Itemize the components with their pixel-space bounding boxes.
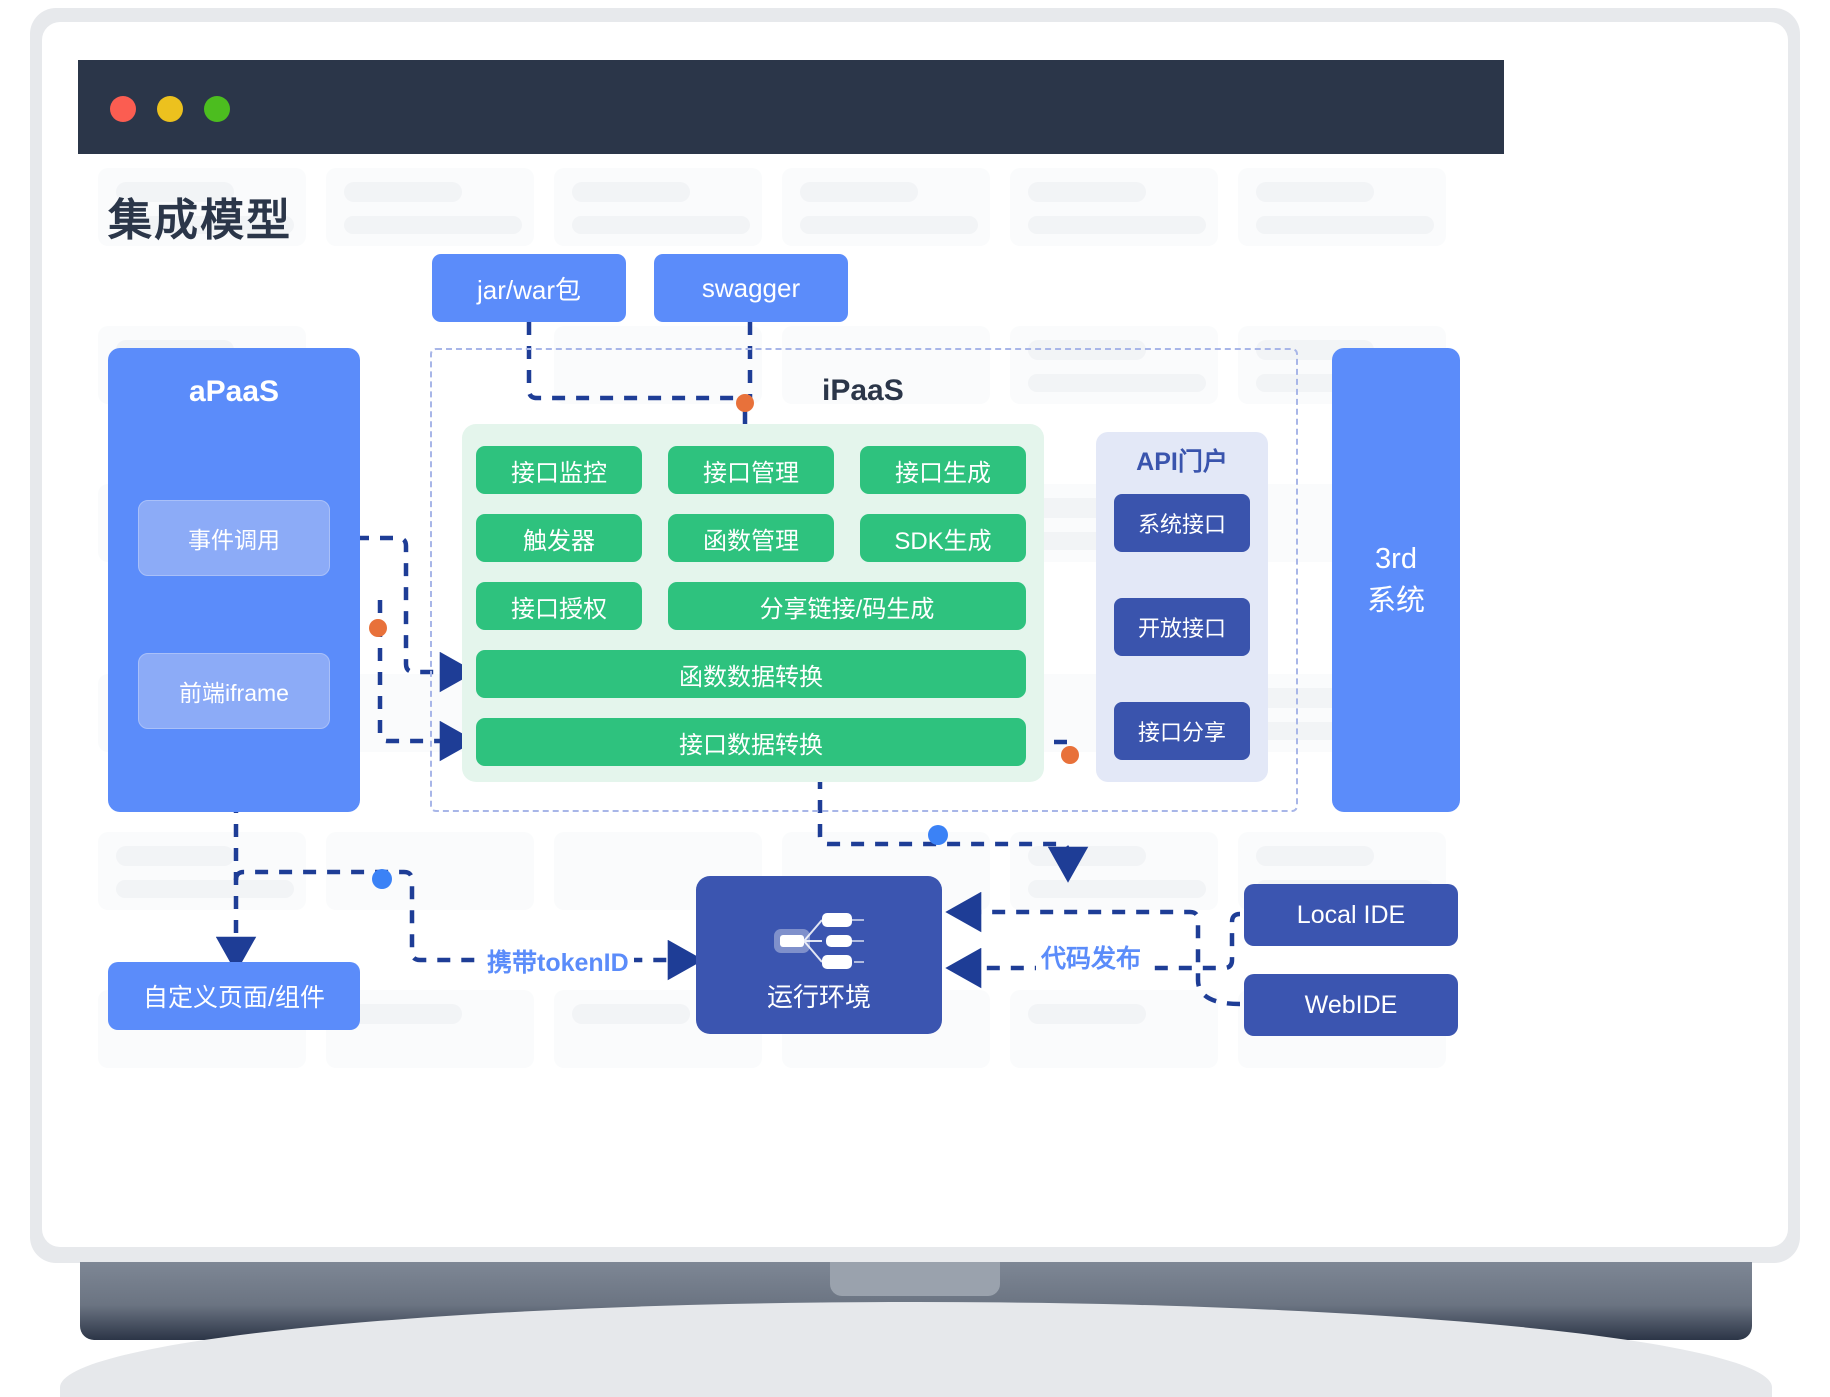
apaas-item-frontend-iframe[interactable]: 前端iframe — [138, 653, 330, 729]
api-portal-item-system-api[interactable]: 系统接口 — [1114, 494, 1250, 552]
ipaas-cap-api-auth[interactable]: 接口授权 — [476, 582, 642, 630]
input-swagger[interactable]: swagger — [654, 254, 848, 322]
third-party-line2: 系统 — [1367, 580, 1425, 622]
third-party-system[interactable]: 3rd 系统 — [1332, 348, 1460, 812]
api-portal-title: API门户 — [1096, 442, 1268, 478]
maximize-icon[interactable] — [204, 96, 230, 122]
ipaas-cap-sdk-generate[interactable]: SDK生成 — [860, 514, 1026, 562]
device-base-notch — [830, 1262, 1000, 1296]
ipaas-cap-api-generate[interactable]: 接口生成 — [860, 446, 1026, 494]
edge-label-code-publish: 代码发布 — [1036, 938, 1146, 976]
ipaas-cap-share-link-code[interactable]: 分享链接/码生成 — [668, 582, 1026, 630]
close-icon[interactable] — [110, 96, 136, 122]
page-title: 集成模型 — [108, 184, 292, 248]
ipaas-row-api-data-transform[interactable]: 接口数据转换 — [476, 718, 1026, 766]
input-jar-war-package[interactable]: jar/war包 — [432, 254, 626, 322]
edge-label-token-id: 携带tokenID — [482, 942, 634, 980]
ipaas-row-function-data-transform[interactable]: 函数数据转换 — [476, 650, 1026, 698]
ipaas-cap-api-monitor[interactable]: 接口监控 — [476, 446, 642, 494]
custom-page-component[interactable]: 自定义页面/组件 — [108, 962, 360, 1030]
apaas-title: aPaaS — [108, 375, 360, 409]
apaas-panel[interactable] — [108, 348, 360, 812]
local-ide[interactable]: Local IDE — [1244, 884, 1458, 946]
minimize-icon[interactable] — [157, 96, 183, 122]
traffic-lights — [110, 96, 230, 122]
runtime-label: 运行环境 — [767, 977, 871, 1014]
ipaas-cap-function-manage[interactable]: 函数管理 — [668, 514, 834, 562]
web-ide[interactable]: WebIDE — [1244, 974, 1458, 1036]
apaas-item-event-call[interactable]: 事件调用 — [138, 500, 330, 576]
api-portal-item-open-api[interactable]: 开放接口 — [1114, 598, 1250, 656]
ipaas-cap-api-manage[interactable]: 接口管理 — [668, 446, 834, 494]
api-portal-item-api-share[interactable]: 接口分享 — [1114, 702, 1250, 760]
ipaas-cap-trigger[interactable]: 触发器 — [476, 514, 642, 562]
mindmap-node-icon — [760, 906, 880, 976]
screenshot-stage: 集成模型 — [0, 0, 1830, 1397]
browser-titlebar — [78, 60, 1504, 154]
third-party-line1: 3rd — [1375, 538, 1417, 580]
ipaas-title: iPaaS — [822, 374, 904, 408]
